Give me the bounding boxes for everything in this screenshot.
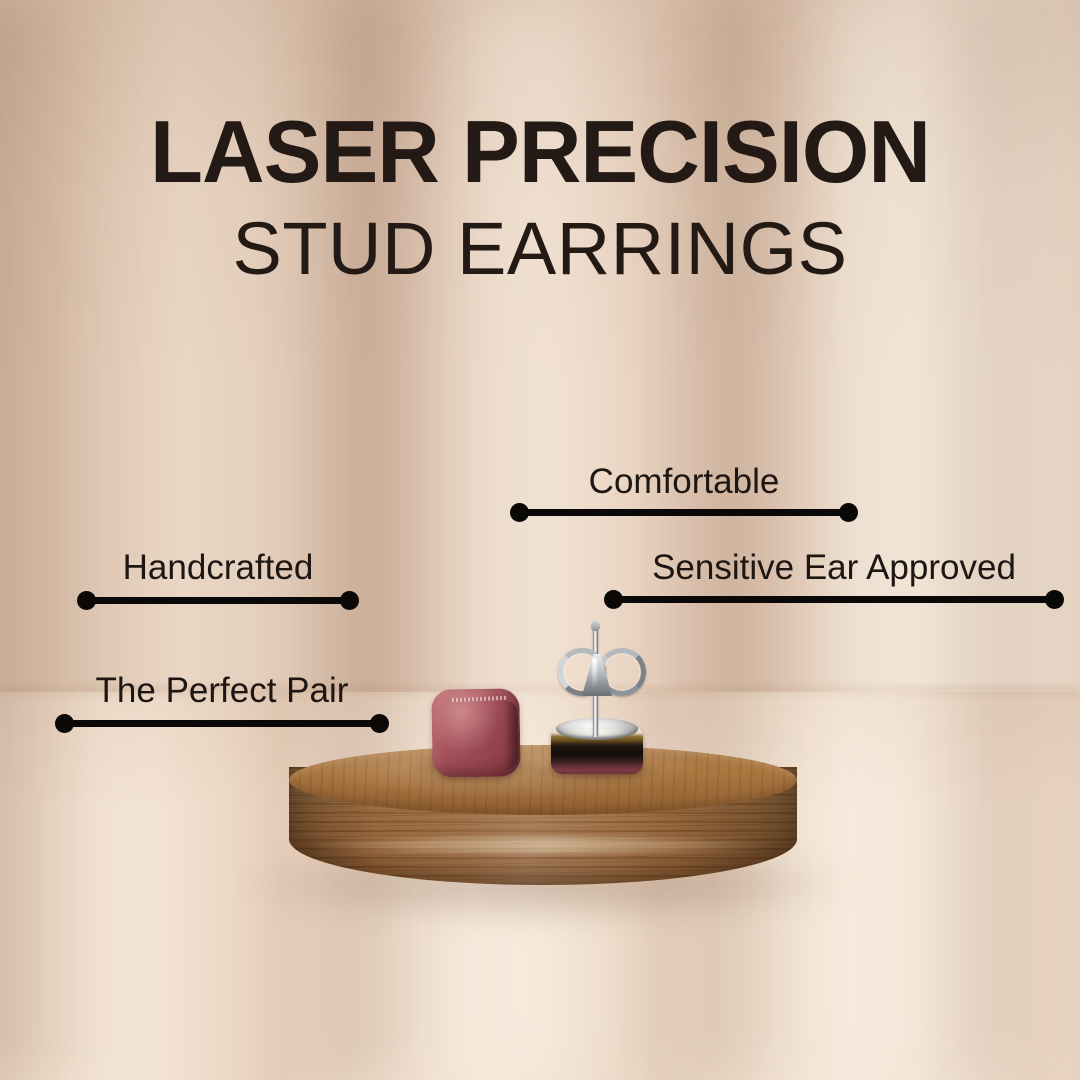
callout-label-handcrafted: Handcrafted — [77, 550, 359, 585]
callout-label-comfortable: Comfortable — [510, 464, 858, 499]
title-line-primary: LASER PRECISION — [8, 108, 1072, 196]
callout-dot-right — [839, 503, 858, 522]
callout-line — [64, 720, 380, 727]
callout-dot-left — [510, 503, 529, 522]
title-line-secondary: STUD EARRINGS — [0, 212, 1080, 286]
podium-top — [289, 745, 797, 815]
callout-dot-right — [370, 714, 389, 733]
callout-label-the-perfect-pair: The Perfect Pair — [55, 673, 389, 708]
callout-dot-right — [340, 591, 359, 610]
callout-dot-left — [604, 590, 623, 609]
callout-line — [519, 509, 849, 516]
podium-highlight — [311, 837, 773, 853]
callout-dot-left — [55, 714, 74, 733]
product-banner-scene: LASER PRECISION STUD EARRINGS Comfortabl… — [0, 0, 1080, 1080]
callout-line — [86, 597, 350, 604]
callout-line — [613, 596, 1055, 603]
callout-label-sensitive-ear-approved: Sensitive Ear Approved — [604, 550, 1064, 585]
callout-dot-right — [1045, 590, 1064, 609]
wooden-podium — [289, 745, 797, 905]
callout-dot-left — [77, 591, 96, 610]
